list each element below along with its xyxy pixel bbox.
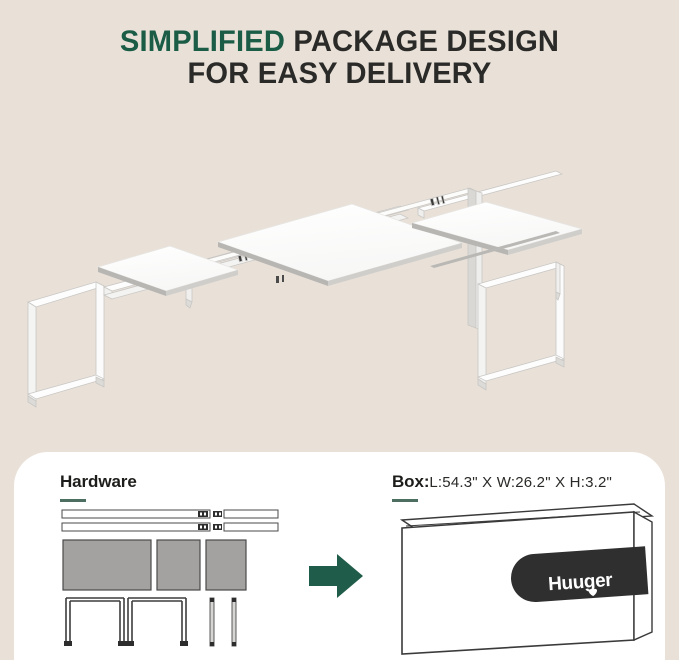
leg-foot-caps <box>64 641 188 646</box>
hardware-parts-diagram <box>60 508 280 648</box>
title-line-1: SIMPLIFIED PACKAGE DESIGN <box>10 26 669 58</box>
hardware-heading: Hardware <box>60 472 137 492</box>
title-line-1-rest: PACKAGE DESIGN <box>285 25 559 58</box>
tabletop-panel-parts <box>63 540 246 590</box>
page-title: SIMPLIFIED PACKAGE DESIGN FOR EASY DELIV… <box>0 26 679 90</box>
process-arrow <box>305 548 367 604</box>
hardware-heading-rule <box>60 499 86 502</box>
box-heading: Box:L:54.3" X W:26.2" X H:3.2" <box>392 472 612 492</box>
infographic-root: SIMPLIFIED PACKAGE DESIGN FOR EASY DELIV… <box>0 0 679 660</box>
box-dimensions: L:54.3" X W:26.2" X H:3.2" <box>429 474 612 491</box>
tabletop-panel-center <box>218 204 462 286</box>
panel-latch-icon <box>276 275 284 283</box>
desk-exploded-illustration <box>0 96 679 436</box>
leg-frame-parts <box>66 598 186 645</box>
vertical-bar-parts <box>210 598 236 646</box>
right-arrow-icon <box>309 554 363 598</box>
box-label: Box: <box>392 472 429 491</box>
title-accent-word: SIMPLIFIED <box>120 25 285 58</box>
hardware-section-header: Hardware <box>60 472 137 502</box>
title-line-2: FOR EASY DELIVERY <box>10 58 669 90</box>
shipping-box-illustration: Huuger <box>396 498 658 656</box>
